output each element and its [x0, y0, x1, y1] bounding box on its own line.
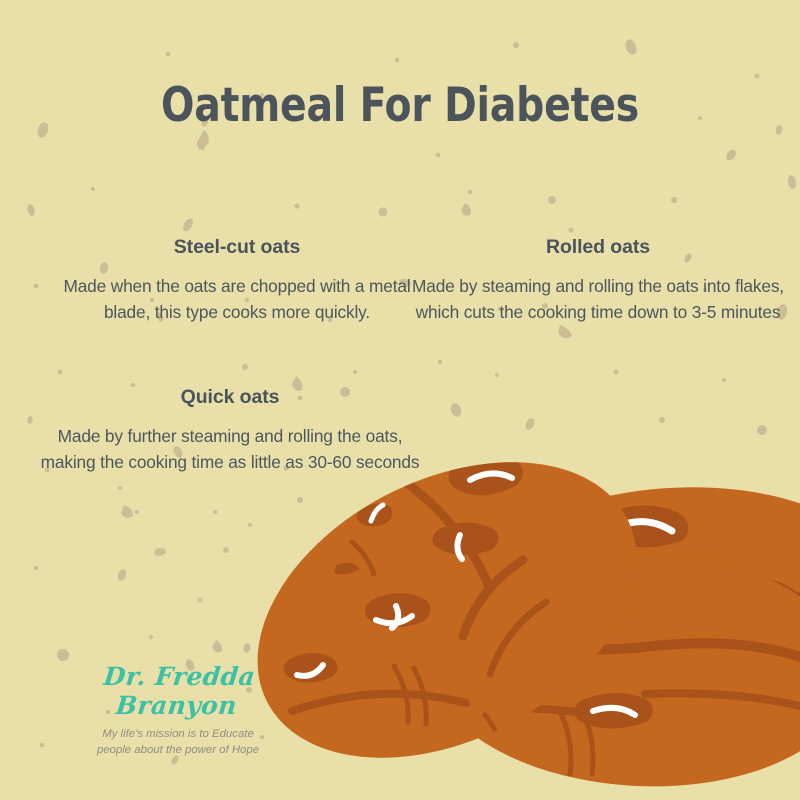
section-body-quick: Made by further steaming and rolling the…: [30, 423, 430, 476]
infographic-canvas: Oatmeal For Diabetes Steel-cut oats Made…: [0, 0, 800, 800]
section-body-steel-cut: Made when the oats are chopped with a me…: [40, 273, 434, 326]
brand-signature: Dr. Fredda Branyon My life's mission is …: [48, 662, 308, 758]
section-heading-quick: Quick oats: [30, 386, 430, 409]
section-heading-steel-cut: Steel-cut oats: [40, 236, 434, 259]
brand-name: Dr. Fredda Branyon: [45, 662, 311, 720]
section-body-rolled: Made by steaming and rolling the oats in…: [398, 273, 798, 326]
brand-tagline-line1: My life's mission is to Educate: [102, 728, 254, 740]
section-quick-oats: Quick oats Made by further steaming and …: [30, 386, 430, 476]
section-steel-cut-oats: Steel-cut oats Made when the oats are ch…: [40, 236, 434, 326]
brand-tagline: My life's mission is to Educate people a…: [48, 726, 308, 758]
section-heading-rolled: Rolled oats: [398, 236, 798, 259]
brand-tagline-line2: people about the power of Hope: [97, 744, 259, 756]
page-title: Oatmeal For Diabetes: [28, 78, 772, 133]
section-rolled-oats: Rolled oats Made by steaming and rolling…: [398, 236, 798, 326]
